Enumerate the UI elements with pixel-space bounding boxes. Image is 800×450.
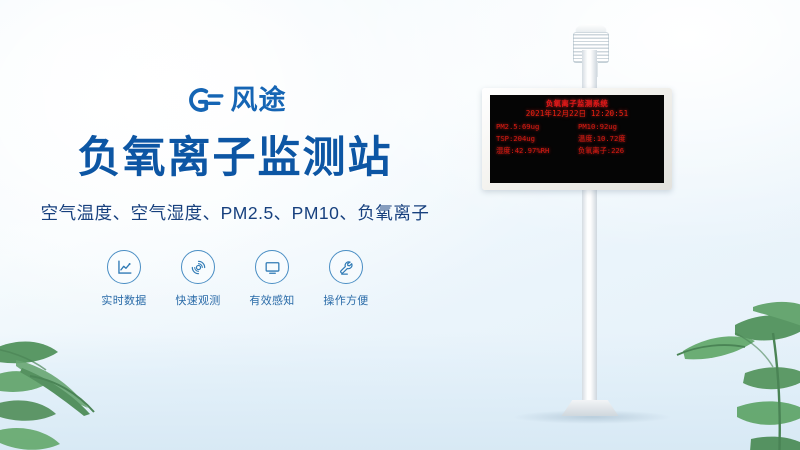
led-reading-tsp: TSP:204ug [496,134,576,144]
led-reading-humidity: 湿度:42.97%RH [496,146,576,156]
led-reading-pm25: PM2.5:69ug [496,122,576,132]
monitor-icon [255,250,289,284]
feature-label: 实时数据 [101,292,146,308]
page-subtitle: 空气温度、空气湿度、PM2.5、PM10、负氧离子 [41,200,430,225]
feature-item-realtime-data[interactable]: 实时数据 [100,250,148,308]
led-datetime: 2021年12月22日 12:20:51 [496,109,658,119]
led-display-board[interactable]: 负氧离子监测系统 2021年12月22日 12:20:51 PM2.5:69ug… [482,88,672,190]
pole-base-plate-icon [556,400,624,416]
line-chart-icon [107,250,141,284]
feature-item-fast-observation[interactable]: 快速观测 [174,250,222,308]
led-title: 负氧离子监测系统 [496,99,658,108]
led-reading-pm10: PM10:92ug [578,122,658,132]
radar-observe-icon [181,250,215,284]
fengtu-g-logo-icon [184,84,224,116]
feature-label: 有效感知 [249,292,294,308]
page-title: 负氧离子监测站 [78,134,393,182]
wrench-icon [329,250,363,284]
feature-item-effective-sensing[interactable]: 有效感知 [248,250,296,308]
feature-label: 操作方便 [323,292,368,308]
brand-name: 风途 [231,87,287,114]
feature-item-easy-operation[interactable]: 操作方便 [322,250,370,308]
led-readings-grid: PM2.5:69ug PM10:92ug TSP:204ug 温度:10.72度… [496,122,658,155]
feature-label: 快速观测 [175,292,220,308]
monitoring-station: 负氧离子监测系统 2021年12月22日 12:20:51 PM2.5:69ug… [470,0,800,450]
feature-list: 实时数据 快速观测 有效感知 [100,250,370,308]
led-reading-temperature: 温度:10.72度 [578,134,658,144]
hero-content-column: 风途 负氧离子监测站 空气温度、空气湿度、PM2.5、PM10、负氧离子 实时数… [0,0,470,450]
brand-logo: 风途 [184,78,287,122]
led-screen: 负氧离子监测系统 2021年12月22日 12:20:51 PM2.5:69ug… [490,95,664,183]
led-reading-negative-ion: 负氧离子:226 [578,146,658,156]
